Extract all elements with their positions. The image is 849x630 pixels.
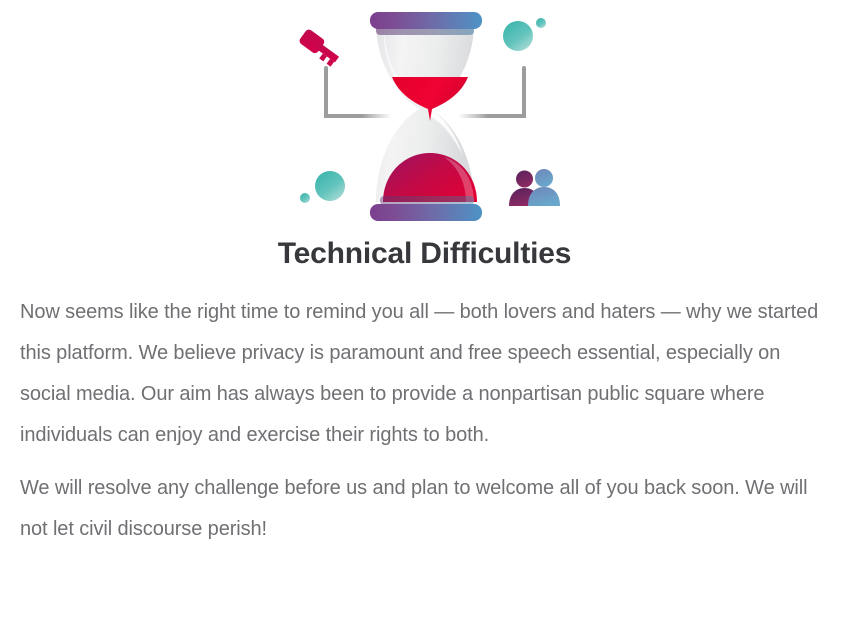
hourglass-illustration [280, 6, 570, 228]
sand-top [392, 77, 468, 121]
technical-difficulties-page: Technical Difficulties Now seems like th… [0, 0, 849, 630]
connector-line-top-left [326, 68, 392, 116]
people-icon [509, 169, 560, 206]
hourglass-top-cap [370, 12, 482, 29]
hourglass-bottom-cap [370, 204, 482, 221]
key-icon [297, 28, 342, 67]
paragraph-2: We will resolve any challenge before us … [20, 468, 820, 550]
teal-circle-top-right-icon [503, 18, 546, 51]
hourglass-bottom-cap-shadow [380, 196, 474, 205]
connector-line-bottom-right [458, 68, 524, 116]
paragraph-1: Now seems like the right time to remind … [20, 292, 820, 456]
illustration-container [0, 0, 849, 228]
teal-circle-bottom-left-icon [300, 171, 345, 203]
page-title: Technical Difficulties [0, 228, 849, 274]
body-copy: Now seems like the right time to remind … [0, 274, 849, 550]
